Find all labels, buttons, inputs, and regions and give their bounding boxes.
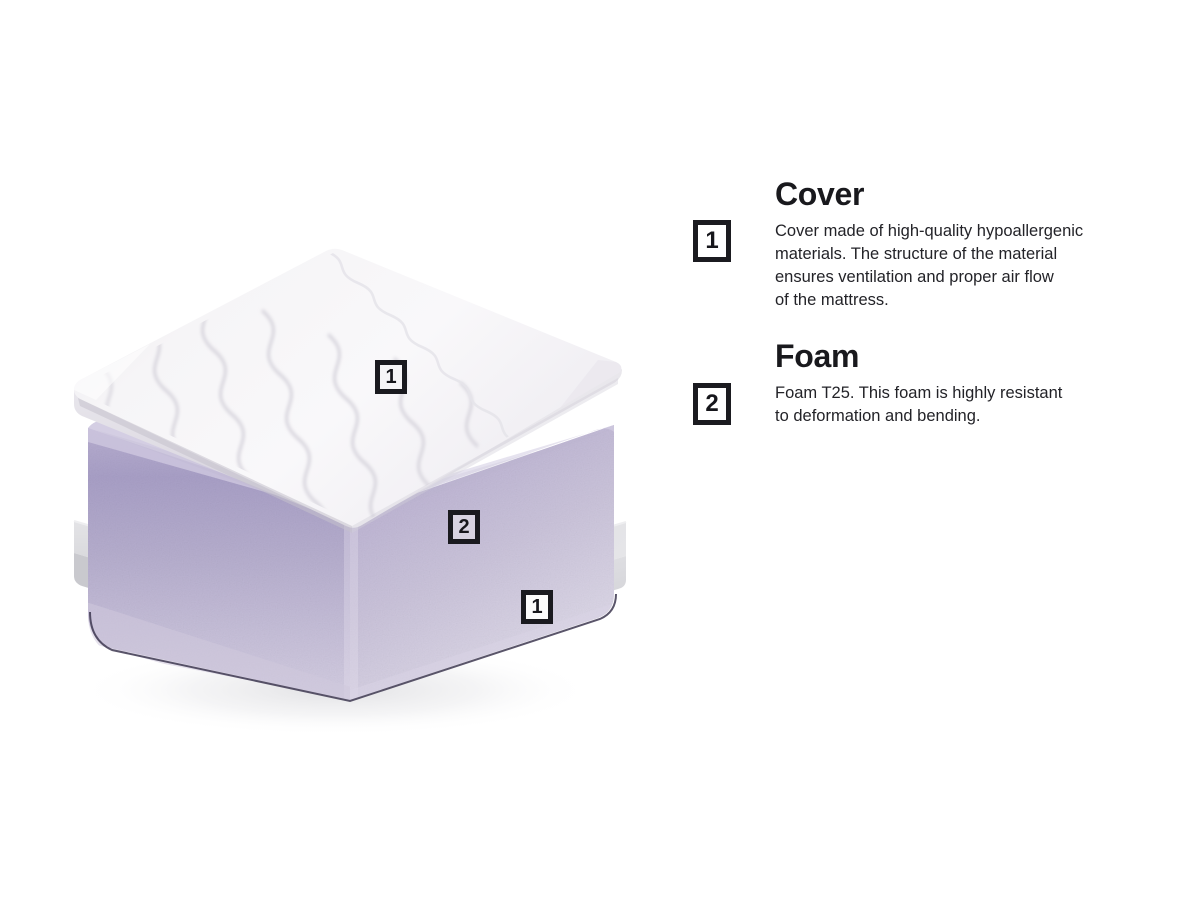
legend-title-foam: Foam	[775, 340, 1062, 372]
legend-description-foam: Foam T25. This foam is highly resistant …	[775, 382, 1062, 428]
legend-badge-1: 1	[693, 220, 731, 262]
legend-title-cover: Cover	[775, 178, 1083, 210]
art-marker-foam[interactable]: 2	[448, 510, 480, 544]
art-marker-base[interactable]: 1	[521, 590, 553, 624]
legend-body-foam: Foam Foam T25. This foam is highly resis…	[775, 340, 1062, 428]
mattress-svg	[0, 0, 680, 899]
art-marker-cover-top[interactable]: 1	[375, 360, 407, 394]
legend-entry-foam: 2 Foam Foam T25. This foam is highly res…	[693, 340, 1163, 428]
legend-badge-2: 2	[693, 383, 731, 425]
legend-description-cover: Cover made of high-quality hypoallergeni…	[775, 220, 1083, 312]
legend-panel: 1 Cover Cover made of high-quality hypoa…	[693, 178, 1163, 429]
legend-body-cover: Cover Cover made of high-quality hypoall…	[775, 178, 1083, 312]
legend-entry-cover: 1 Cover Cover made of high-quality hypoa…	[693, 178, 1163, 312]
mattress-illustration: 1 2 1	[0, 0, 680, 899]
